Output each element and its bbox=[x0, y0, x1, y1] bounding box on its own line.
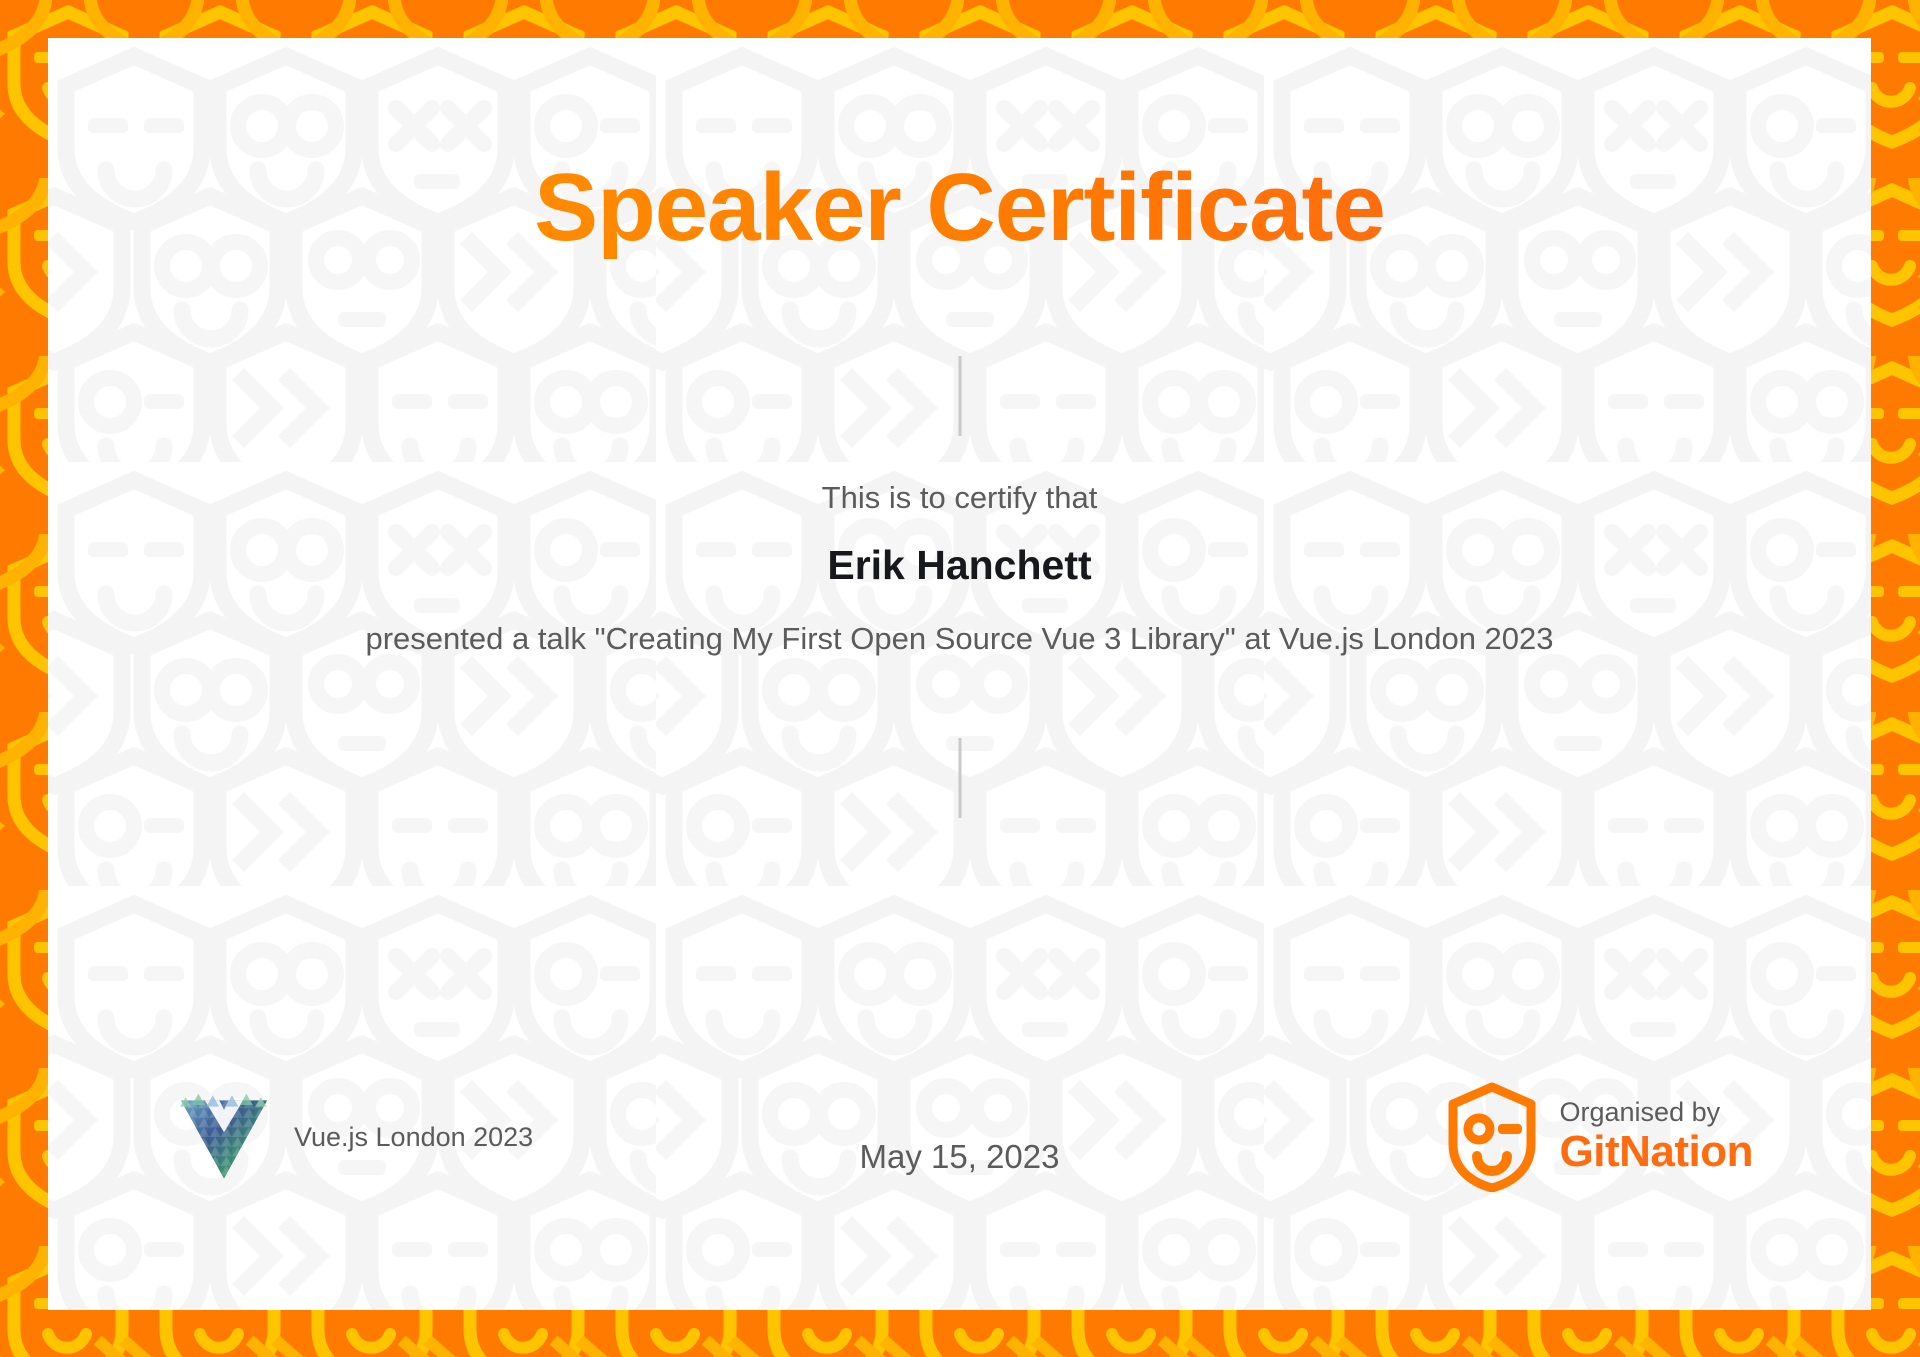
organiser-text: Organised by GitNation bbox=[1560, 1097, 1753, 1177]
certificate-body: This is to certify that Erik Hanchett pr… bbox=[168, 478, 1751, 660]
event-name: Vue.js London 2023 bbox=[294, 1122, 533, 1153]
issue-date: May 15, 2023 bbox=[860, 1138, 1060, 1176]
organised-by-label: Organised by bbox=[1560, 1097, 1753, 1127]
certificate-footer: Vue.js London 2023 May 15, 2023 Organise… bbox=[48, 1072, 1871, 1202]
certify-line: This is to certify that bbox=[168, 478, 1751, 518]
recipient-name: Erik Hanchett bbox=[168, 540, 1751, 591]
certificate: Speaker Certificate This is to certify t… bbox=[0, 0, 1920, 1357]
divider-top bbox=[958, 356, 961, 436]
divider-bottom bbox=[958, 738, 961, 818]
page-title: Speaker Certificate bbox=[48, 158, 1871, 259]
organiser-name: GitNation bbox=[1560, 1127, 1753, 1176]
footer-event: Vue.js London 2023 bbox=[176, 1072, 533, 1202]
certificate-panel: Speaker Certificate This is to certify t… bbox=[48, 38, 1871, 1310]
talk-description: presented a talk "Creating My First Open… bbox=[360, 618, 1560, 660]
gitnation-shield-icon bbox=[1446, 1082, 1538, 1192]
vue-logo-icon bbox=[176, 1089, 272, 1185]
footer-organiser: Organised by GitNation bbox=[1446, 1082, 1753, 1192]
